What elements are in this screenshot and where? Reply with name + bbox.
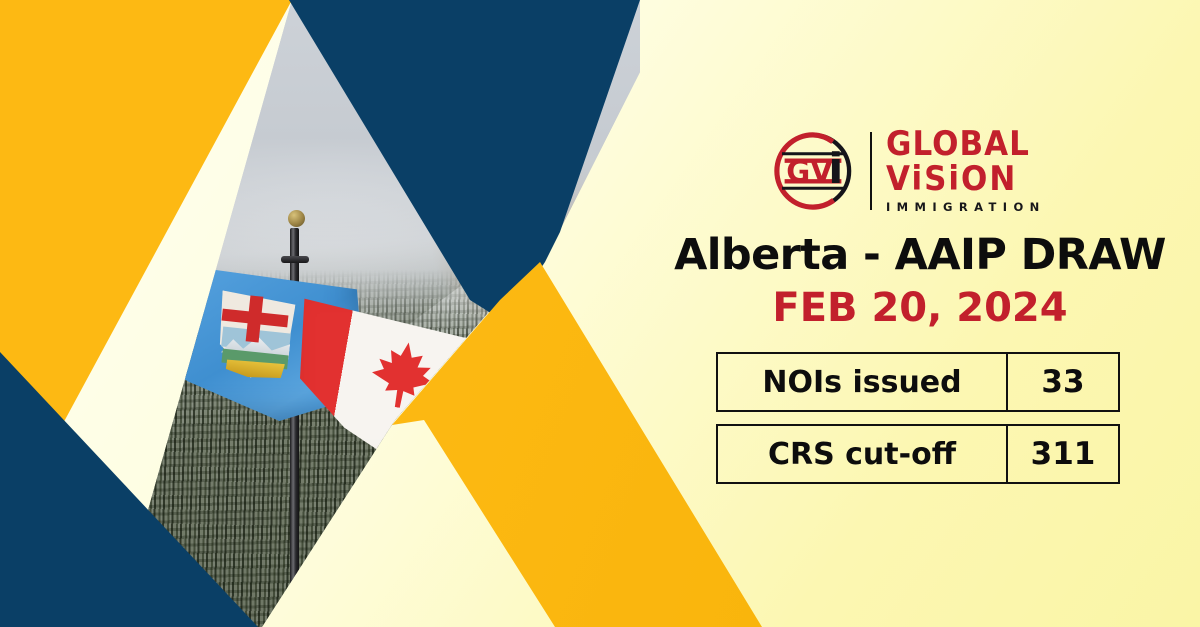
logo-divider (870, 132, 872, 210)
stat-value-nois: 33 (1008, 354, 1118, 410)
page-title: Alberta - AAIP DRAW (640, 230, 1200, 280)
gvi-circle-emblem-icon: GV (770, 128, 856, 214)
stats-table: NOIs issued 33 CRS cut-off 311 (716, 352, 1120, 484)
svg-text:GV: GV (786, 154, 833, 188)
poster-canvas: GV GLOBAL ViSiON IMMIGRATION Alberta - A… (0, 0, 1200, 627)
flagpole-right-finial (288, 210, 305, 227)
brand-name-line1: GLOBAL (886, 128, 1030, 161)
content-panel: GV GLOBAL ViSiON IMMIGRATION Alberta - A… (640, 0, 1200, 627)
table-row: CRS cut-off 311 (716, 424, 1120, 484)
stat-label-nois: NOIs issued (718, 354, 1008, 410)
brand-logo: GV GLOBAL ViSiON IMMIGRATION (770, 128, 1046, 214)
brand-tagline: IMMIGRATION (886, 202, 1046, 214)
brand-wordmark: GLOBAL ViSiON IMMIGRATION (886, 129, 1046, 214)
flagpole-right-collar (281, 256, 309, 263)
brand-name-line2: ViSiON (886, 163, 1017, 196)
stat-value-crs: 311 (1008, 426, 1118, 482)
table-row: NOIs issued 33 (716, 352, 1120, 412)
draw-date: FEB 20, 2024 (640, 285, 1200, 331)
stat-label-crs: CRS cut-off (718, 426, 1008, 482)
